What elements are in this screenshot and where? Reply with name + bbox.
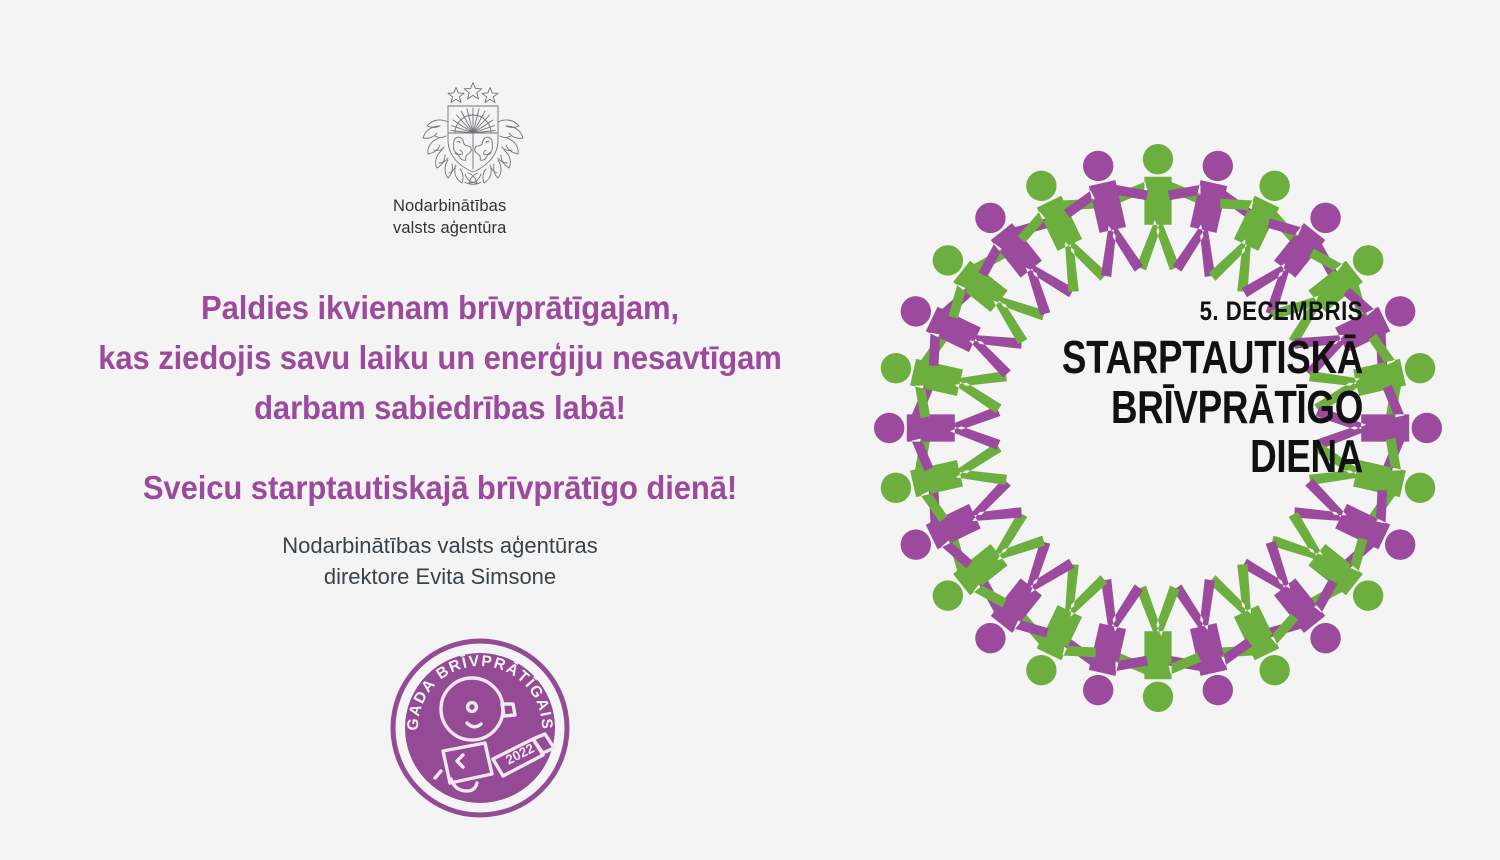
person-head	[1080, 148, 1116, 184]
poster-canvas: Nodarbinātības valsts aģentūra Paldies i…	[0, 0, 1500, 860]
latvian-coat-of-arms-icon	[415, 78, 531, 190]
person-head	[1402, 470, 1438, 506]
greeting-line: Sveicu starptautiskajā brīvprātīgo dienā…	[26, 463, 853, 513]
person-head	[1412, 413, 1442, 443]
headline-line-1: Paldies ikvienam brīvprātīgajam,	[26, 283, 853, 333]
person-head	[1080, 672, 1116, 708]
volunteer-of-the-year-seal-icon: GADA BRĪVPRĀTĪGAIS	[389, 637, 571, 819]
headline-line-2: kas ziedojis savu laiku un enerģiju nesa…	[26, 333, 853, 383]
headline-line-3: darbam sabiedrības labā!	[26, 383, 853, 433]
person-head	[1402, 350, 1438, 386]
people-circle-graphic: 5. DECEMBRIS STARPTAUTISKĀ BRĪVPRĀTĪGO D…	[858, 128, 1458, 728]
person-head	[878, 470, 914, 506]
person-head	[1200, 148, 1236, 184]
agency-wordmark: Nodarbinātības valsts aģentūra	[393, 196, 593, 240]
left-content-column: Nodarbinātības valsts aģentūra Paldies i…	[0, 0, 880, 860]
person-head	[1200, 672, 1236, 708]
signature-text: Nodarbinātības valsts aģentūras direktor…	[0, 530, 880, 592]
headline-block: Paldies ikvienam brīvprātīgajam, kas zie…	[0, 283, 880, 514]
person-head	[874, 413, 904, 443]
person-head	[878, 350, 914, 386]
person-head	[1143, 682, 1173, 712]
person-head	[1143, 144, 1173, 174]
volunteer-year-badge: GADA BRĪVPRĀTĪGAIS	[389, 637, 571, 824]
people-holding-hands-circle-icon	[858, 128, 1458, 728]
agency-logo: Nodarbinātības valsts aģentūra	[393, 78, 593, 240]
